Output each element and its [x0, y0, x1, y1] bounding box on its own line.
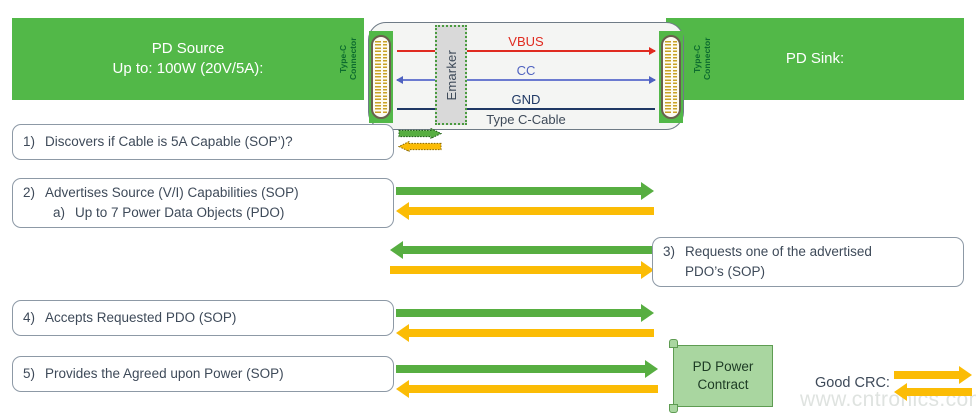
step-3-line-1: 3)Requests one of the advertised: [663, 242, 953, 262]
step-5-number: 5): [23, 364, 45, 384]
arrow-shaft: [396, 309, 641, 317]
arrow-shaft: [409, 329, 654, 337]
arrow-shaft: [396, 187, 641, 195]
emarker-label: Emarker: [444, 50, 459, 101]
pd-source-title: PD Source: [113, 39, 264, 59]
good-crc-arrow-right: [894, 366, 972, 384]
arrowhead-right-icon-vbus: [649, 47, 656, 55]
arrowhead-right-icon: [641, 182, 654, 200]
step-2a-number: a): [53, 203, 75, 223]
step-1-arrow-green-right: [398, 128, 442, 139]
arrow-shaft: [894, 371, 959, 379]
arrowhead-left-icon: [894, 383, 907, 401]
step-2-box[interactable]: 2)Advertises Source (V/I) Capabilities (…: [12, 178, 394, 228]
step-4-arrow-yellow-left: [396, 324, 654, 342]
step-2-line-1: 2)Advertises Source (V/I) Capabilities (…: [23, 183, 383, 203]
step-3-arrow-yellow-right: [390, 261, 654, 279]
type-c-plug-icon-left: [371, 35, 391, 119]
pd-source-subtitle: Up to: 100W (20V/5A):: [113, 59, 264, 79]
plug-pin-split-left: [381, 41, 383, 113]
good-crc-label: Good CRC:: [815, 375, 890, 391]
pd-sink-title: PD Sink:: [786, 49, 844, 69]
step-4-line-1: 4)Accepts Requested PDO (SOP): [23, 308, 383, 328]
arrowhead-left-icon-cc: [396, 76, 403, 84]
step-1-box[interactable]: 1)Discovers if Cable is 5A Capable (SOP’…: [12, 124, 394, 160]
arrowhead-left-icon: [390, 241, 403, 259]
step-2-line-2: a)Up to 7 Power Data Objects (PDO): [23, 203, 383, 223]
good-crc-arrows: [894, 366, 972, 400]
document-curl-bottom-icon: [669, 404, 678, 413]
step-5-line-1: 5)Provides the Agreed upon Power (SOP): [23, 364, 383, 384]
step-2-number: 2): [23, 183, 45, 203]
step-1-number: 1): [23, 132, 45, 152]
step-4-box[interactable]: 4)Accepts Requested PDO (SOP): [12, 300, 394, 336]
topology-diagram: PD Source Up to: 100W (20V/5A): PD Sink:…: [0, 18, 976, 100]
arrow-shaft: [403, 246, 654, 254]
step-5-box[interactable]: 5)Provides the Agreed upon Power (SOP): [12, 356, 394, 392]
step-3-arrow-green-left: [390, 241, 654, 259]
step-2a-text: Up to 7 Power Data Objects (PDO): [75, 205, 284, 220]
step-2-arrow-green-right: [396, 182, 654, 200]
type-c-plug-icon-right: [661, 35, 681, 119]
emarker-block: Emarker: [435, 25, 467, 125]
step-4-arrow-green-right: [396, 304, 654, 322]
arrowhead-left-icon: [396, 380, 409, 398]
arrowhead-right-icon: [641, 304, 654, 322]
arrowhead-right-icon-cc: [649, 76, 656, 84]
step-2-text: Advertises Source (V/I) Capabilities (SO…: [45, 185, 299, 200]
step-1-arrow-yellow-left: [398, 141, 442, 152]
arrow-shaft: [409, 207, 654, 215]
step-4-text: Accepts Requested PDO (SOP): [45, 310, 236, 325]
type-c-connector-label-right: Type-C Connector: [690, 18, 716, 100]
step-1-text: Discovers if Cable is 5A Capable (SOP’)?: [45, 134, 293, 149]
contract-line-2: Contract: [693, 376, 754, 394]
step-3-number: 3): [663, 242, 685, 262]
document-curl-top-icon: [669, 339, 678, 348]
good-crc-arrow-left: [894, 383, 972, 401]
type-c-connector-label-left: Type-C Connector: [336, 18, 362, 100]
step-3-box[interactable]: 3)Requests one of the advertised PDO’s (…: [652, 237, 964, 287]
step-3-text-2: PDO’s (SOP): [685, 264, 765, 279]
step-5-arrow-green-right: [396, 360, 658, 378]
arrowhead-right-icon: [959, 366, 972, 384]
plug-pin-split-right: [671, 41, 673, 113]
arrow-shaft: [409, 385, 658, 393]
arrowhead-left-icon: [396, 202, 409, 220]
arrow-shaft: [907, 388, 972, 396]
good-crc-legend: Good CRC:: [815, 366, 972, 400]
step-5-text: Provides the Agreed upon Power (SOP): [45, 366, 284, 381]
step-5-arrow-yellow-left: [396, 380, 658, 398]
pd-source-banner: PD Source Up to: 100W (20V/5A):: [12, 18, 364, 100]
pd-power-contract-box: PD Power Contract: [673, 345, 773, 407]
contract-line-1: PD Power: [693, 358, 754, 376]
step-3-text: Requests one of the advertised: [685, 244, 872, 259]
step-3-line-2: PDO’s (SOP): [663, 262, 953, 282]
step-4-number: 4): [23, 308, 45, 328]
step-2-arrow-yellow-left: [396, 202, 654, 220]
step-1-line-1: 1)Discovers if Cable is 5A Capable (SOP’…: [23, 132, 383, 152]
arrow-shaft: [396, 365, 645, 373]
arrowhead-right-icon: [645, 360, 658, 378]
arrow-shaft: [390, 266, 641, 274]
cable-caption: Type C-Cable: [369, 112, 683, 127]
type-c-cable: VBUS CC GND Emarker Type C-Cable: [368, 22, 684, 130]
arrowhead-left-icon: [396, 324, 409, 342]
